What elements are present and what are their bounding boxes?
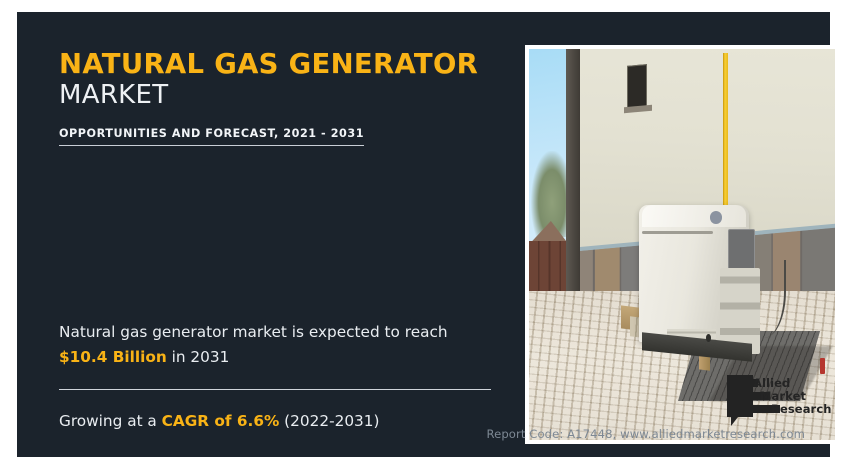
report-code-footer: Report Code: A17448, www.alliedmarketres… <box>486 427 805 441</box>
market-value-statement: Natural gas generator market is expected… <box>59 320 514 370</box>
logo-text-research: Research <box>771 402 832 416</box>
logo-text-allied: Allied <box>753 376 790 390</box>
cagr-statement: Growing at a CAGR of 6.6% (2022-2031) <box>59 409 514 434</box>
logo-text-market: Market <box>760 389 806 403</box>
market-value-tail-text: in 2031 <box>167 348 230 366</box>
infographic-page: NATURAL GAS GENERATOR MARKET OPPORTUNITI… <box>0 0 847 470</box>
market-value-lead-text: Natural gas generator market is expected… <box>59 323 448 341</box>
cagr-value: CAGR of 6.6% <box>162 412 280 430</box>
report-title-plain: MARKET <box>59 81 499 110</box>
photo-frame: Allied Market Research <box>525 45 839 444</box>
allied-market-research-logo: Allied Market Research <box>727 375 823 428</box>
cagr-lead-text: Growing at a <box>59 412 162 430</box>
photo-generator-knob <box>710 211 722 224</box>
cagr-tail-text: (2022-2031) <box>279 412 379 430</box>
photo-generator-seam <box>642 231 712 234</box>
photo-building-corner <box>566 49 580 331</box>
generator-photo: Allied Market Research <box>529 49 835 440</box>
report-heading-group: NATURAL GAS GENERATOR MARKET OPPORTUNITI… <box>59 50 499 146</box>
photo-red-marker <box>820 358 825 374</box>
report-subtitle: OPPORTUNITIES AND FORECAST, 2021 - 2031 <box>59 127 364 140</box>
photo-generator-lid <box>642 205 746 227</box>
report-card: NATURAL GAS GENERATOR MARKET OPPORTUNITI… <box>17 12 830 457</box>
market-value-block: Natural gas generator market is expected… <box>59 320 514 370</box>
photo-window <box>627 64 647 109</box>
cagr-block: Growing at a CAGR of 6.6% (2022-2031) <box>59 409 514 434</box>
market-value-amount: $10.4 Billion <box>59 348 167 366</box>
report-subtitle-underline: OPPORTUNITIES AND FORECAST, 2021 - 2031 <box>59 127 364 146</box>
section-divider <box>59 389 491 390</box>
report-title-highlight: NATURAL GAS GENERATOR <box>59 50 499 79</box>
